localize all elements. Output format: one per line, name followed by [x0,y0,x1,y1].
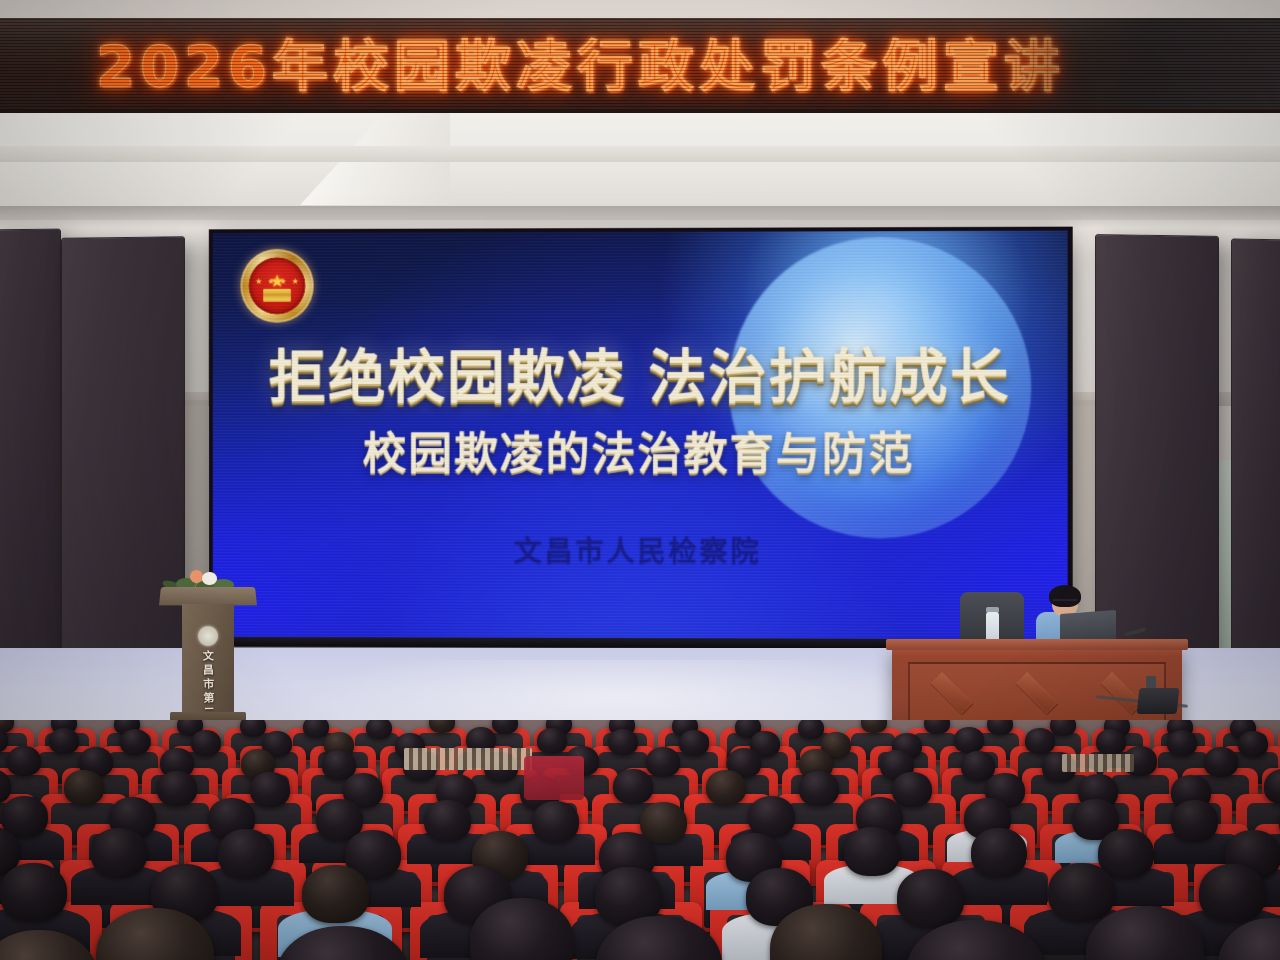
audience-member-head [1204,747,1238,777]
aisle-red-seat [524,756,584,800]
screen-surface: ★ ★★★★ 拒绝校园欺凌 法治护航成长 校园欺凌的法治教育与防范 文昌市人民检… [213,231,1068,640]
emblem-small-stars-icon: ★★★★ [255,277,299,286]
audience-member-head [302,865,369,923]
audience-member-head [608,729,638,755]
ceiling-shadow [0,206,1280,228]
audience-member-head [250,772,290,807]
led-banner-text: 2026年校园欺凌行政处罚条例宣讲 [96,22,1065,103]
podium: 文昌市第二中学 [168,586,248,736]
audience-member-head [799,771,839,806]
presentation-title: 拒绝校园欺凌 法治护航成长 [213,329,1068,414]
audience-member-head [0,863,67,921]
aisle-rail-right [1062,754,1134,772]
audience-member-head [748,796,795,837]
acoustic-panel-right-outer [1232,240,1280,687]
audience-member-head [640,802,687,843]
audience-member-head [424,800,471,841]
audience-member-head [532,801,579,842]
audience-member-head [1048,863,1115,921]
audience-member-head [1171,800,1218,841]
podium-body: 文昌市第二中学 [182,604,234,716]
podium-top-surface [159,587,257,605]
auditorium-photo: 2026年校园欺凌行政处罚条例宣讲 ★ ★★★★ 拒绝校园欺凌 法治护航成长 校… [0,0,1280,960]
audience-member-head [954,727,984,753]
acoustic-panel-left-inner [62,237,184,698]
presentation-organization: 文昌市人民检察院 [213,529,1068,570]
led-banner-dim-area [990,18,1280,110]
audience-member-head [1098,829,1154,878]
ceiling-beam [0,146,1280,162]
led-stage-screen: ★ ★★★★ 拒绝校园欺凌 法治护航成长 校园欺凌的法治教育与防范 文昌市人民检… [209,227,1073,650]
audience-member-head [798,720,824,739]
audience-member-head [120,729,150,755]
audience-member-head [1167,730,1197,756]
floor-monitor-speaker [1137,688,1180,714]
audience-member-head [218,829,274,878]
audience-member-head [892,772,932,807]
audience-member-head [303,720,329,738]
glasses-icon [1053,599,1077,606]
audience-member-head [679,730,709,756]
audience-member-head [157,771,197,806]
presentation-subtitle: 校园欺凌的法治教育与防范 [213,418,1068,482]
audience-member-head [1238,731,1268,757]
school-seal-icon [198,626,218,646]
audience-member-head [191,730,221,756]
procuratorate-emblem-icon: ★ ★★★★ [240,249,313,323]
audience-member-head [366,720,392,739]
desk-front-panel [908,662,1166,724]
desk-diamond-decoration [931,672,973,714]
aisle-rail [404,748,532,770]
led-banner: 2026年校园欺凌行政处罚条例宣讲 [0,18,1280,113]
emblem-gate-icon [263,289,291,302]
desk-diamond-decoration [1016,672,1058,714]
acoustic-panel-left-outer [0,230,60,671]
audience-member-head [49,728,79,754]
audience-member-head [1025,728,1055,754]
audience-member-head [240,720,266,737]
audience-member-head [897,869,964,927]
emblem-shield: ★ ★★★★ [249,258,304,314]
audience-member-head [64,770,104,805]
audience-member-head [1096,729,1126,755]
audience-member-head [7,746,41,776]
desk-top [886,639,1188,650]
audience-member-head [537,728,567,754]
audience-member-head [971,828,1027,877]
audience-member-head [91,828,147,877]
audience-member-head [646,747,680,777]
audience-member-head [706,770,746,805]
audience-member-head [1199,864,1266,922]
audience-member-head [844,827,900,876]
audience-member-head [613,769,653,804]
